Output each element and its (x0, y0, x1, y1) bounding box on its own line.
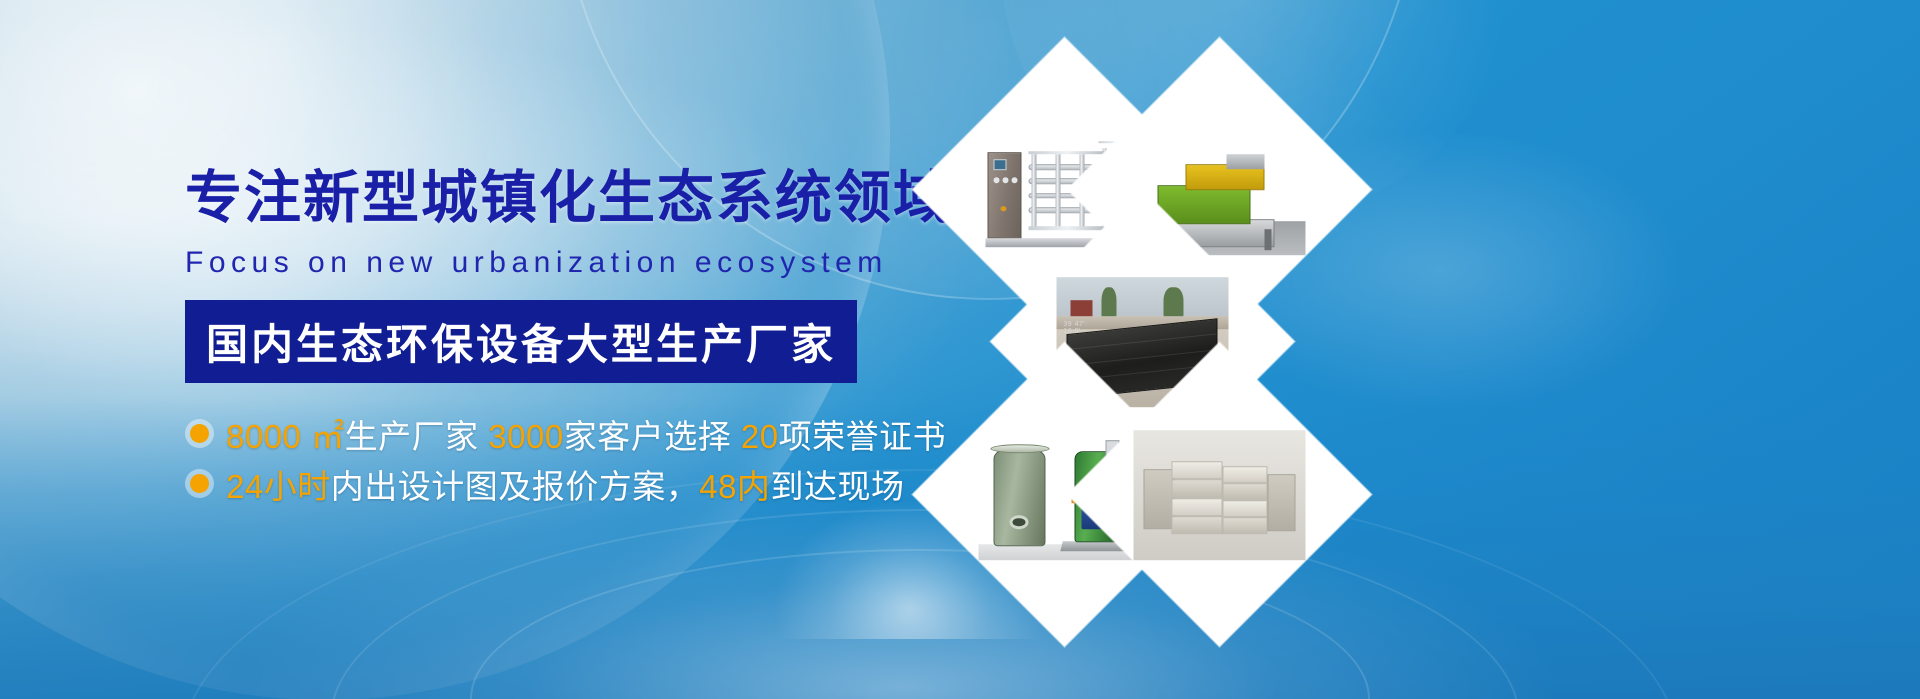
bullet-item: 24小时内出设计图及报价方案，48内到达现场 (185, 459, 945, 509)
bullet-plain-text: 项 (779, 418, 813, 455)
ripple-ring-middle (330, 509, 1520, 699)
bullet-dot-icon (190, 474, 209, 493)
hero-headline: 专注新型城镇化生态系统领域 (185, 168, 945, 230)
product-diamond-collage: 39 47'16 9' (905, 62, 1335, 482)
concrete-blocks-photo (1134, 430, 1306, 560)
bullet-plain-text: 内出设计图及报价方案， (331, 468, 700, 505)
bullet-highlight-text: 48内 (699, 468, 770, 505)
bullet-highlight-text: 3000 (488, 418, 563, 455)
bullet-item: 8000 ㎡生产厂家 3000家客户选择 20项荣誉证书 (185, 409, 945, 459)
hero-bullet-list: 8000 ㎡生产厂家 3000家客户选择 20项荣誉证书 24小时内出设计图及报… (185, 409, 945, 509)
hero-banner: 专注新型城镇化生态系统领域 Focus on new urbanization … (0, 0, 1920, 699)
hero-ribbon: 国内生态环保设备大型生产厂家 (185, 300, 857, 383)
hero-subheadline: Focus on new urbanization ecosystem (185, 246, 945, 280)
bullet-highlight-text: 24小时 (226, 468, 331, 505)
bullet-highlight-text: 8000 ㎡ (226, 418, 345, 455)
hero-ribbon-label: 国内生态环保设备大型生产厂家 (206, 311, 836, 372)
bullet-dot-icon (190, 424, 209, 443)
bullet-line-1: 8000 ㎡生产厂家 3000家客户选择 20项荣誉证书 (226, 410, 946, 458)
bullet-line-2: 24小时内出设计图及报价方案，48内到达现场 (226, 460, 904, 508)
hero-copy-block: 专注新型城镇化生态系统领域 Focus on new urbanization … (185, 168, 945, 509)
bullet-highlight-text: 20 (741, 418, 779, 455)
bullet-plain-text: 家客户选择 (564, 418, 741, 455)
bullet-plain-text: 生产厂家 (345, 418, 489, 455)
bullet-plain-text: 到达现场 (770, 468, 904, 505)
